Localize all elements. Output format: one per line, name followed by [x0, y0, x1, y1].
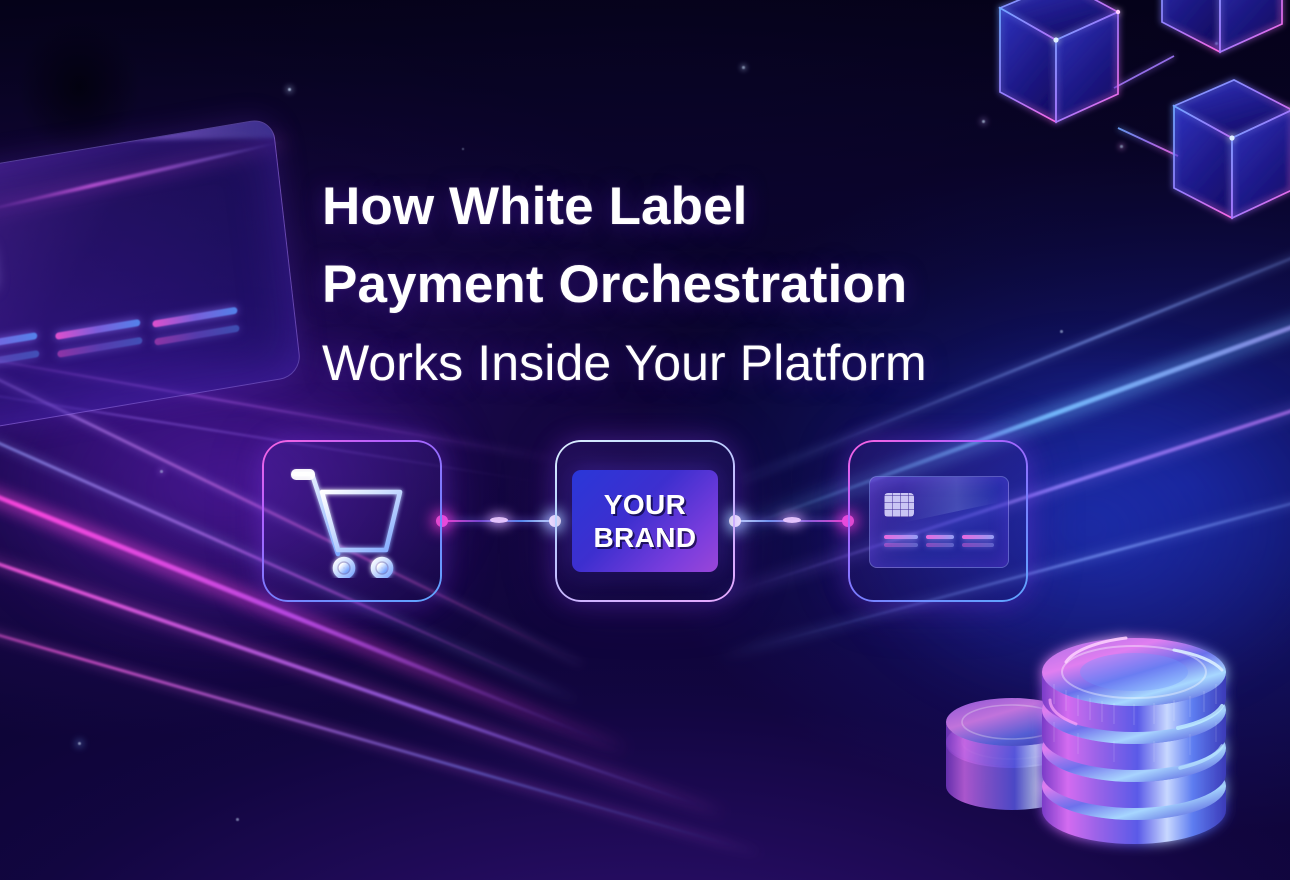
coin-stack [938, 572, 1278, 872]
credit-card-icon [869, 476, 1009, 568]
flow-node-card[interactable] [848, 440, 1028, 602]
connector-dot-mid [490, 517, 508, 523]
page-title: How White Label Payment Orchestration Wo… [322, 168, 1022, 402]
headline-line-1: How White Label [322, 168, 1022, 246]
connector-brand-to-card [735, 519, 848, 522]
connector-cart-to-brand [442, 519, 555, 522]
headline-line-3: Works Inside Your Platform [322, 324, 1022, 402]
flow-node-cart[interactable] [262, 440, 442, 602]
brand-label-line-2: BRAND [593, 521, 696, 554]
payment-flow-diagram: YOUR BRAND [255, 440, 1035, 605]
brand-badge-icon: YOUR BRAND [572, 470, 718, 572]
brand-label-line-1: YOUR [604, 488, 687, 521]
banner-canvas: How White Label Payment Orchestration Wo… [0, 0, 1290, 880]
connector-dot-mid [783, 517, 801, 523]
card-chip-icon [884, 493, 914, 517]
flow-node-brand[interactable]: YOUR BRAND [555, 440, 735, 602]
headline-line-2: Payment Orchestration [322, 246, 1022, 324]
